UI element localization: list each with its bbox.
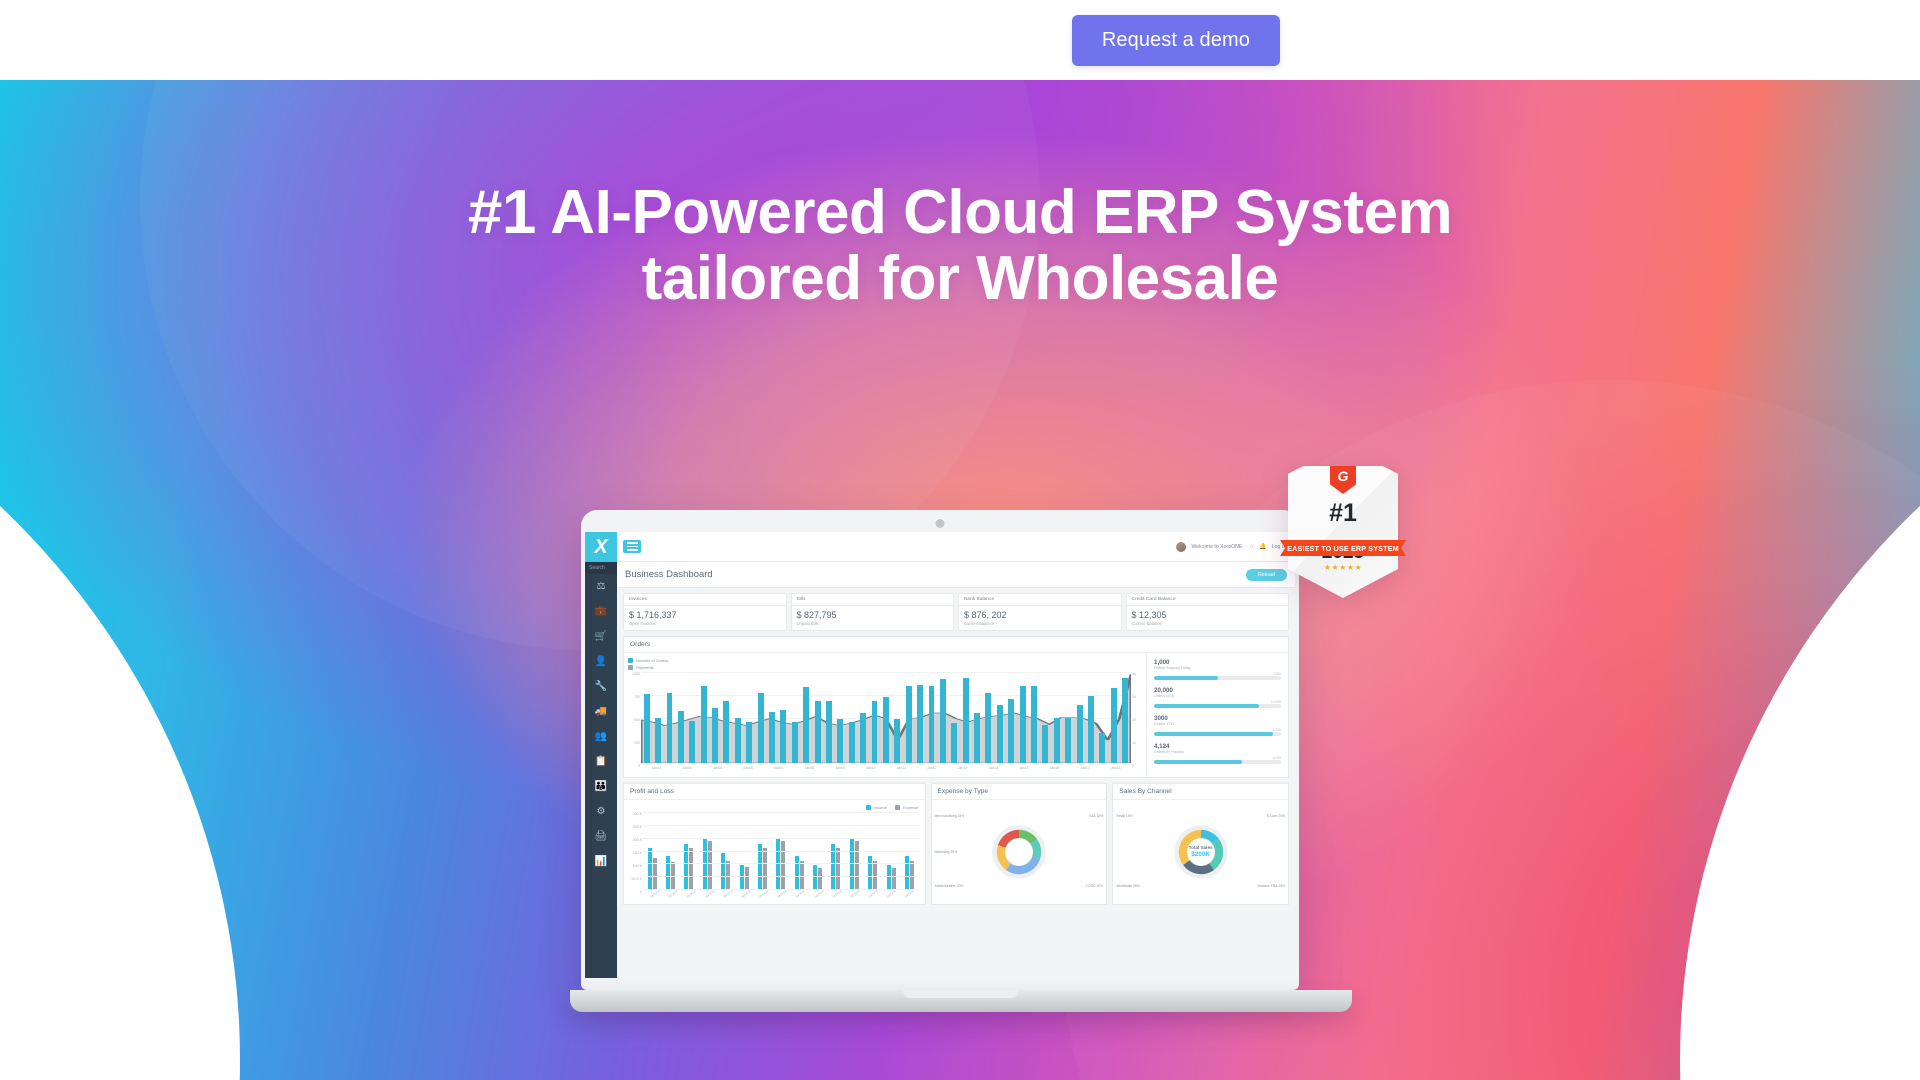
- bar: [818, 868, 822, 889]
- dashboard-content: Invoices$ 1,716,337Open InvoicesBills$ 8…: [617, 588, 1295, 978]
- laptop-camera-icon: [936, 519, 945, 528]
- bar: [1020, 686, 1026, 763]
- profit-loss-title: Profit and Loss: [624, 784, 925, 800]
- printer-icon[interactable]: 🖨: [585, 824, 617, 849]
- truck-icon[interactable]: 🚚: [585, 699, 617, 724]
- bar: [815, 701, 821, 763]
- bar-cell: [687, 672, 698, 763]
- bar-cell: [1006, 672, 1017, 763]
- y-tick-label: 250: [634, 741, 640, 745]
- stat-progress-fill: [1154, 676, 1218, 680]
- bar: [1042, 725, 1048, 763]
- donut-slice-label: Administrative 20%: [935, 884, 964, 888]
- bar-cell: [1040, 672, 1051, 763]
- bar: [763, 848, 767, 889]
- orders-x-axis: Jan03Jan04Jan05Jan06Jan07Jan08Jan09Jan10…: [628, 766, 1142, 770]
- stat-progress-bar: [1154, 704, 1281, 708]
- orders-bar-series: [641, 672, 1131, 763]
- bar: [780, 710, 786, 763]
- sales-by-channel-title: Sales By Channel: [1113, 784, 1288, 800]
- bar: [860, 713, 866, 763]
- bar-cell: [789, 672, 800, 763]
- stat-progress-bar: [1154, 676, 1281, 680]
- x-tick-label: Jan16: [1039, 766, 1070, 770]
- gridline: [643, 876, 919, 877]
- bar: [735, 718, 741, 763]
- g2-shield: G #1 2025 ★★★★★: [1288, 466, 1398, 598]
- profit-loss-x-axis: 01/201802/201803/201804/201805/201806/20…: [630, 892, 919, 896]
- bar-cell: [1051, 672, 1062, 763]
- briefcase-icon[interactable]: 💼: [585, 599, 617, 624]
- bar-cell: [983, 672, 994, 763]
- orders-card: Orders Number of OrdersPayments 10007505…: [623, 636, 1289, 778]
- g2-rank: #1: [1329, 501, 1357, 526]
- bar-cell: [675, 672, 686, 763]
- stat-progress-fill: [1154, 704, 1259, 708]
- y2-tick-label: 40: [1132, 672, 1136, 676]
- orders-card-body: Number of OrdersPayments 10007505002500 …: [624, 653, 1288, 777]
- g2-ribbon-label: EASIEST TO USE ERP SYSTEM: [1280, 540, 1406, 556]
- bar-cell: [812, 672, 823, 763]
- legend-swatch: [628, 658, 633, 663]
- bar: [837, 719, 843, 763]
- bar: [723, 701, 729, 763]
- bar: [644, 694, 650, 763]
- expense-by-type-title: Expense by Type: [932, 784, 1107, 800]
- donut-slice-label: Amazon FBA 25%: [1257, 884, 1285, 888]
- bar-cell: [835, 672, 846, 763]
- bar-cell: [892, 672, 903, 763]
- donut-svg: [982, 815, 1056, 889]
- bar: [667, 693, 673, 763]
- legend-label: Payments: [636, 665, 654, 670]
- bar-cell: [1028, 672, 1039, 763]
- bar-cell: [664, 672, 675, 763]
- bar-cell: [755, 672, 766, 763]
- user-icon[interactable]: 👤: [585, 649, 617, 674]
- welcome-text: Welcome to XoroONE.: [1191, 544, 1243, 550]
- top-navbar: Request a demo: [0, 0, 1920, 80]
- donut-slice-label: Marketing 20%: [935, 850, 958, 854]
- profit-loss-y-axis: 300 K250 K200 K150 K100 K50.0 K0: [630, 812, 643, 890]
- bar: [689, 721, 695, 763]
- gridline: [643, 825, 919, 826]
- bar-cell: [937, 672, 948, 763]
- donut-center-value: $200K: [1189, 851, 1213, 859]
- bar-cell: [721, 672, 732, 763]
- donut-center-label: Total Sales$200K: [1189, 845, 1213, 859]
- bar: [701, 686, 707, 763]
- bar-cell: [1108, 672, 1119, 763]
- donut-slice-label: G&A 15%: [1089, 814, 1104, 818]
- orders-plot-area: 10007505002500 403020100: [628, 672, 1142, 764]
- bar: [708, 841, 712, 889]
- stat-label: Orders YTD: [1154, 722, 1281, 726]
- y2-tick-label: 20: [1132, 718, 1136, 722]
- y2-tick-label: 0: [1132, 764, 1134, 768]
- bar: [873, 861, 877, 889]
- clipboard-icon[interactable]: 📋: [585, 749, 617, 774]
- bar-cell: [949, 672, 960, 763]
- orders-chart-legend: Number of OrdersPayments: [628, 658, 1142, 670]
- kpi-card: Bills$ 827,795Unpaid Bills: [791, 593, 955, 631]
- legend-label: Number of Orders: [636, 658, 668, 663]
- bar-cell: [766, 672, 777, 763]
- kpi-title: Bills: [792, 594, 954, 606]
- y2-tick-label: 30: [1132, 695, 1136, 699]
- donut-slice-label: Wholesale 35%: [1116, 884, 1140, 888]
- legend-label: Expense: [903, 805, 919, 810]
- gridline: [643, 838, 919, 839]
- hero-title-line-2: tailored for Wholesale: [0, 246, 1920, 312]
- chart-icon[interactable]: 📊: [585, 849, 617, 874]
- donut-center-title: Total Sales: [1189, 845, 1213, 851]
- bar: [951, 723, 957, 763]
- stat-progress-bar: [1154, 732, 1281, 736]
- bar: [1088, 696, 1094, 763]
- app-sidebar: X Search ⚖💼🛒👤🔧🚚👥📋👪⚙🖨📊: [585, 532, 617, 978]
- orders-plot: [641, 672, 1131, 764]
- bar-cell: [641, 672, 652, 763]
- g2-stars-icon: ★★★★★: [1324, 563, 1362, 572]
- gridline: [643, 812, 919, 813]
- g2-logo-icon: G: [1330, 464, 1356, 494]
- bar: [678, 711, 684, 763]
- profit-loss-plot-area: 300 K250 K200 K150 K100 K50.0 K0: [630, 812, 919, 890]
- x-tick-label: Jan15: [1009, 766, 1040, 770]
- legend-label: Income: [874, 805, 887, 810]
- request-demo-button[interactable]: Request a demo: [1072, 15, 1280, 66]
- bar-cell: [1085, 672, 1096, 763]
- x-tick-label: Jan10: [855, 766, 886, 770]
- x-tick-label: Jan09: [825, 766, 856, 770]
- bar: [795, 856, 799, 889]
- stat-progress-fill: [1154, 760, 1242, 764]
- kpi-title: Invoices: [624, 594, 786, 606]
- orders-stat: 20,000Orders MTD24,000: [1154, 687, 1281, 708]
- stat-value: 20,000: [1154, 687, 1281, 694]
- bar: [726, 861, 730, 889]
- stat-label: Orders Shipped Today: [1154, 666, 1281, 670]
- bar-cell: [994, 672, 1005, 763]
- gridline: [643, 863, 919, 864]
- bar: [894, 719, 900, 763]
- y-tick-label: 0: [640, 890, 642, 894]
- x-tick-label: Jan04: [672, 766, 703, 770]
- legend-item: Expense: [895, 805, 919, 810]
- bar: [648, 848, 652, 889]
- sidebar-search-input[interactable]: Search: [585, 562, 617, 574]
- legend-item: Payments: [628, 665, 1142, 670]
- bar: [1099, 733, 1105, 763]
- bar-cell: [732, 672, 743, 763]
- y-tick-label: 50.0 K: [632, 877, 642, 881]
- bar-cell: [709, 672, 720, 763]
- y-tick-label: 1000: [632, 672, 640, 676]
- bar: [906, 686, 912, 763]
- orders-card-title: Orders: [624, 637, 1288, 653]
- bar: [721, 853, 725, 889]
- orders-stat: 1,000Orders Shipped Today2,000: [1154, 659, 1281, 680]
- bar-cell: [1074, 672, 1085, 763]
- profit-loss-plot: [643, 812, 919, 890]
- bar-cell: [846, 672, 857, 763]
- page-title: #1 AI-Powered Cloud ERP System tailored …: [0, 180, 1920, 311]
- bar-cell: [914, 672, 925, 763]
- kpi-value: $ 876, 202: [959, 606, 1121, 621]
- legend-swatch: [866, 805, 871, 810]
- dashboard-title: Business Dashboard: [625, 569, 713, 580]
- kpi-card-row: Invoices$ 1,716,337Open InvoicesBills$ 8…: [623, 593, 1289, 631]
- sidebar-icon-list: ⚖💼🛒👤🔧🚚👥📋👪⚙🖨📊: [585, 574, 617, 874]
- bar: [781, 841, 785, 889]
- orders-stat: 4,124Orders In Process6,000: [1154, 743, 1281, 764]
- sales-by-channel-card: Sales By Channel Total Sales$200KRetail …: [1112, 783, 1289, 905]
- kpi-subtitle: Current Balance: [959, 621, 1121, 630]
- bar: [883, 697, 889, 763]
- favorite-star-icon[interactable]: ☆: [1249, 543, 1254, 550]
- kpi-subtitle: Open Invoices: [624, 621, 786, 630]
- orders-chart: Number of OrdersPayments 10007505002500 …: [624, 653, 1146, 777]
- g2-logo-text: G: [1338, 468, 1349, 484]
- bar: [917, 685, 923, 763]
- orders-y-axis: 10007505002500: [628, 672, 641, 764]
- bar-cell: [903, 672, 914, 763]
- stat-value: 1,000: [1154, 659, 1281, 666]
- y-tick-label: 750: [634, 695, 640, 699]
- bar: [745, 867, 749, 889]
- kpi-card: Credit Card Balance$ 12,305Current Balan…: [1126, 593, 1290, 631]
- x-tick-label: Jan12: [917, 766, 948, 770]
- reload-button[interactable]: Reload: [1246, 569, 1287, 581]
- donut-slice-label: E-Com 25%: [1267, 814, 1285, 818]
- bar: [868, 856, 872, 889]
- bar: [1122, 678, 1128, 763]
- bar: [826, 701, 832, 763]
- bar-cell: [1097, 672, 1108, 763]
- x-tick-label: Jan18: [1100, 766, 1131, 770]
- laptop-body: X Search ⚖💼🛒👤🔧🚚👥📋👪⚙🖨📊 Welcome to XoroONE…: [581, 510, 1299, 990]
- kpi-card: Invoices$ 1,716,337Open Invoices: [623, 593, 787, 631]
- stat-value: 4,124: [1154, 743, 1281, 750]
- kpi-title: Bank Balance: [959, 594, 1121, 606]
- kpi-title: Credit Card Balance: [1127, 594, 1289, 606]
- x-tick-label: Jan08: [794, 766, 825, 770]
- cart-icon[interactable]: 🛒: [585, 624, 617, 649]
- bar-cell: [823, 672, 834, 763]
- donut-slice-label: COGS 30%: [1086, 884, 1104, 888]
- legend-item: Income: [866, 805, 887, 810]
- hero-title-line-1: #1 AI-Powered Cloud ERP System: [0, 180, 1920, 246]
- bar: [929, 686, 935, 763]
- settings-icon[interactable]: ⚙: [585, 799, 617, 824]
- bar: [892, 868, 896, 889]
- app-screen: X Search ⚖💼🛒👤🔧🚚👥📋👪⚙🖨📊 Welcome to XoroONE…: [585, 532, 1295, 978]
- bar: [974, 713, 980, 763]
- wrench-icon[interactable]: 🔧: [585, 674, 617, 699]
- profit-loss-legend: IncomeExpense: [630, 805, 919, 810]
- x-tick-label: Jan06: [733, 766, 764, 770]
- bar-cell: [880, 672, 891, 763]
- bar: [803, 687, 809, 763]
- topbar-right-group: Welcome to XoroONE. ☆ 🔔 Log out: [1176, 542, 1289, 552]
- kpi-subtitle: Unpaid Bills: [792, 621, 954, 630]
- x-tick-label: Jan03: [641, 766, 672, 770]
- x-tick-label: Jan14: [978, 766, 1009, 770]
- kpi-subtitle: Current Balance: [1127, 621, 1289, 630]
- add-user-icon[interactable]: 👥: [585, 724, 617, 749]
- notification-bell-icon[interactable]: 🔔: [1259, 543, 1266, 550]
- bar: [655, 718, 661, 763]
- bar: [905, 856, 909, 889]
- bar-cell: [857, 672, 868, 763]
- profit-loss-card: Profit and Loss IncomeExpense 300 K250 K…: [623, 783, 926, 905]
- legend-swatch: [628, 665, 633, 670]
- bar: [769, 712, 775, 763]
- bar-cell: [778, 672, 789, 763]
- legend-swatch: [895, 805, 900, 810]
- y2-tick-label: 10: [1132, 741, 1136, 745]
- stat-label: Orders In Process: [1154, 750, 1281, 754]
- avatar[interactable]: [1176, 542, 1186, 552]
- bar: [836, 848, 840, 889]
- bar: [792, 722, 798, 763]
- orders-stats-panel: 1,000Orders Shipped Today2,00020,000Orde…: [1146, 653, 1288, 777]
- bar: [758, 693, 764, 763]
- bar: [985, 693, 991, 763]
- laptop-base: [570, 990, 1352, 1012]
- bar: [855, 841, 859, 889]
- g2-award-badge: G #1 2025 ★★★★★ EASIEST TO USE ERP SYSTE…: [1288, 466, 1398, 598]
- bar: [800, 861, 804, 889]
- bar: [1031, 686, 1037, 763]
- bar-cell: [744, 672, 755, 763]
- x-tick-label: Jan05: [702, 766, 733, 770]
- sales-channel-donut-chart: Total Sales$200KRetail 15%E-Com 25%Amazo…: [1113, 800, 1288, 904]
- bar-cell: [869, 672, 880, 763]
- x-tick-label: Jan11: [886, 766, 917, 770]
- bar: [872, 701, 878, 763]
- bar-cell: [926, 672, 937, 763]
- app-logo[interactable]: X: [585, 532, 617, 562]
- bar: [666, 856, 670, 889]
- y-tick-label: 250 K: [633, 825, 642, 829]
- y-tick-label: 0: [638, 764, 640, 768]
- app-main: Welcome to XoroONE. ☆ 🔔 Log out Business…: [617, 532, 1295, 978]
- y-tick-label: 100 K: [633, 864, 642, 868]
- legend-item: Number of Orders: [628, 658, 1142, 663]
- kpi-card: Bank Balance$ 876, 202Current Balance: [958, 593, 1122, 631]
- stat-value: 3000: [1154, 715, 1281, 722]
- bar: [746, 722, 752, 763]
- x-tick-label: Jan07: [764, 766, 795, 770]
- bar-cell: [698, 672, 709, 763]
- y-tick-label: 200 K: [633, 838, 642, 842]
- x-tick-label: Jan13: [947, 766, 978, 770]
- stat-progress-fill: [1154, 732, 1273, 736]
- x-tick-label: Jan17: [1070, 766, 1101, 770]
- bar-cell: [1119, 672, 1130, 763]
- y-tick-label: 150 K: [633, 851, 642, 855]
- bar: [712, 708, 718, 763]
- dashboard-header: Business Dashboard Reload: [617, 562, 1295, 588]
- y-tick-label: 500: [634, 718, 640, 722]
- bar: [1077, 705, 1083, 763]
- laptop-notch: [903, 990, 1019, 998]
- bar: [910, 861, 914, 889]
- bar: [940, 679, 946, 763]
- bar: [1111, 688, 1117, 763]
- kpi-value: $ 1,716,337: [624, 606, 786, 621]
- bar: [1054, 718, 1060, 763]
- bar-cell: [960, 672, 971, 763]
- bar: [689, 848, 693, 889]
- gridline: [641, 763, 1131, 764]
- expense-by-type-card: Expense by Type Merchandising 15%G&A 15%…: [931, 783, 1108, 905]
- bar: [1065, 718, 1071, 763]
- expense-donut-chart: Merchandising 15%G&A 15%COGS 30%Administ…: [932, 800, 1107, 904]
- bar-cell: [800, 672, 811, 763]
- kpi-value: $ 12,305: [1127, 606, 1289, 621]
- orders-y2-axis: 403020100: [1131, 672, 1142, 764]
- y-tick-label: 300 K: [633, 812, 642, 816]
- dashboard-bottom-row: Profit and Loss IncomeExpense 300 K250 K…: [623, 783, 1289, 905]
- orders-stat: 3000Orders YTD3,200: [1154, 715, 1281, 736]
- stat-progress-bar: [1154, 760, 1281, 764]
- hero-page: Request a demo #1 AI-Powered Cloud ERP S…: [0, 0, 1920, 1080]
- kpi-value: $ 827,795: [792, 606, 954, 621]
- donut-slice-label: Merchandising 15%: [935, 814, 965, 818]
- bar: [997, 705, 1003, 763]
- laptop-mockup: X Search ⚖💼🛒👤🔧🚚👥📋👪⚙🖨📊 Welcome to XoroONE…: [570, 510, 1310, 1012]
- bar: [849, 722, 855, 763]
- bar-cell: [971, 672, 982, 763]
- bar-cell: [652, 672, 663, 763]
- menu-toggle-icon[interactable]: [623, 540, 641, 553]
- bar: [1008, 699, 1014, 763]
- team-icon[interactable]: 👪: [585, 774, 617, 799]
- bar: [963, 678, 969, 763]
- donut-slice-label: Retail 15%: [1116, 814, 1132, 818]
- app-topbar: Welcome to XoroONE. ☆ 🔔 Log out: [617, 532, 1295, 562]
- profit-loss-body: IncomeExpense 300 K250 K200 K150 K100 K5…: [624, 800, 925, 904]
- gridline: [643, 851, 919, 852]
- dashboard-icon[interactable]: ⚖: [585, 574, 617, 599]
- bar-cell: [1017, 672, 1028, 763]
- stat-label: Orders MTD: [1154, 694, 1281, 698]
- bar-cell: [1062, 672, 1073, 763]
